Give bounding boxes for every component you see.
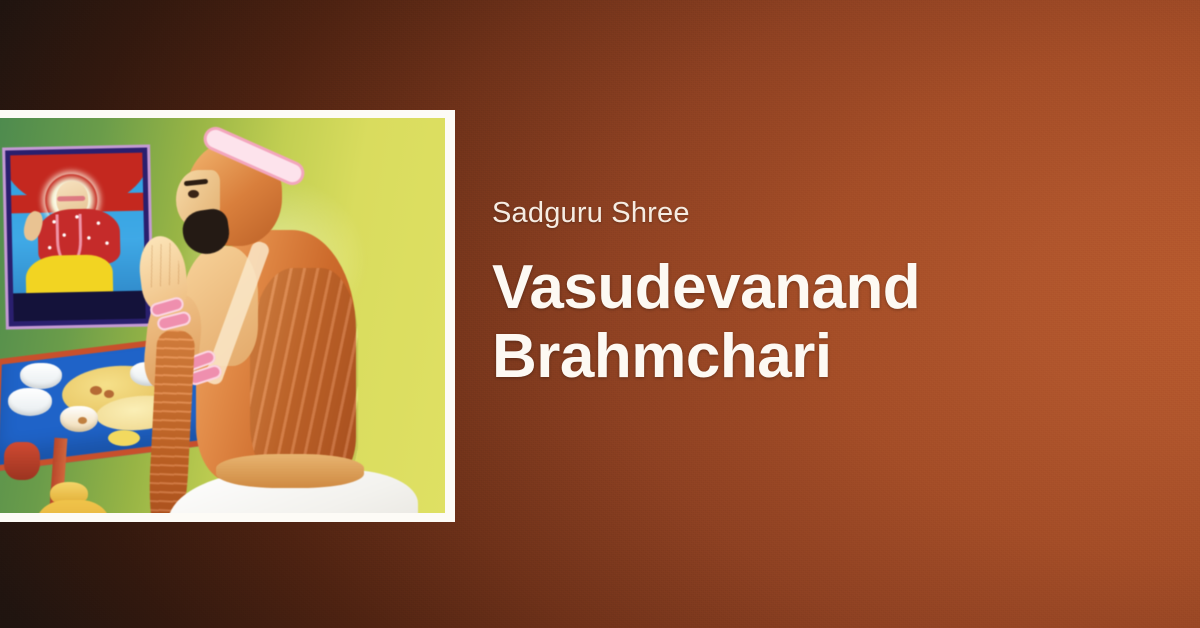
devotional-painting: [0, 118, 445, 513]
brass-lamp-icon: [36, 500, 110, 513]
saint-eyes: [57, 195, 85, 201]
banner-root: Sadguru Shree Vasudevanand Brahmchari: [0, 0, 1200, 628]
page-title-line-1: Vasudevanand: [492, 253, 1132, 322]
portrait-canvas: [10, 153, 145, 322]
devotee-waist: [216, 454, 364, 488]
page-title: Vasudevanand Brahmchari: [492, 253, 1132, 392]
clay-pot: [4, 442, 40, 480]
framed-saint-portrait-icon: [2, 144, 154, 329]
offering-bowl: [8, 388, 52, 416]
portrait-mount: [5, 148, 151, 327]
page-title-line-2: Brahmchari: [492, 322, 1132, 391]
offering-dish: [108, 430, 140, 446]
eyebrow-title: Sadguru Shree: [492, 196, 1132, 231]
devotee-eye: [188, 190, 199, 198]
offering-bowl: [20, 363, 62, 389]
offering-food: [104, 390, 114, 398]
text-block: Sadguru Shree Vasudevanand Brahmchari: [492, 196, 1132, 392]
portrait-photo-frame: [0, 110, 455, 522]
robe-folds: [250, 268, 358, 478]
offering-food: [78, 417, 87, 424]
offering-food: [90, 386, 102, 395]
portrait-base: [13, 290, 146, 321]
